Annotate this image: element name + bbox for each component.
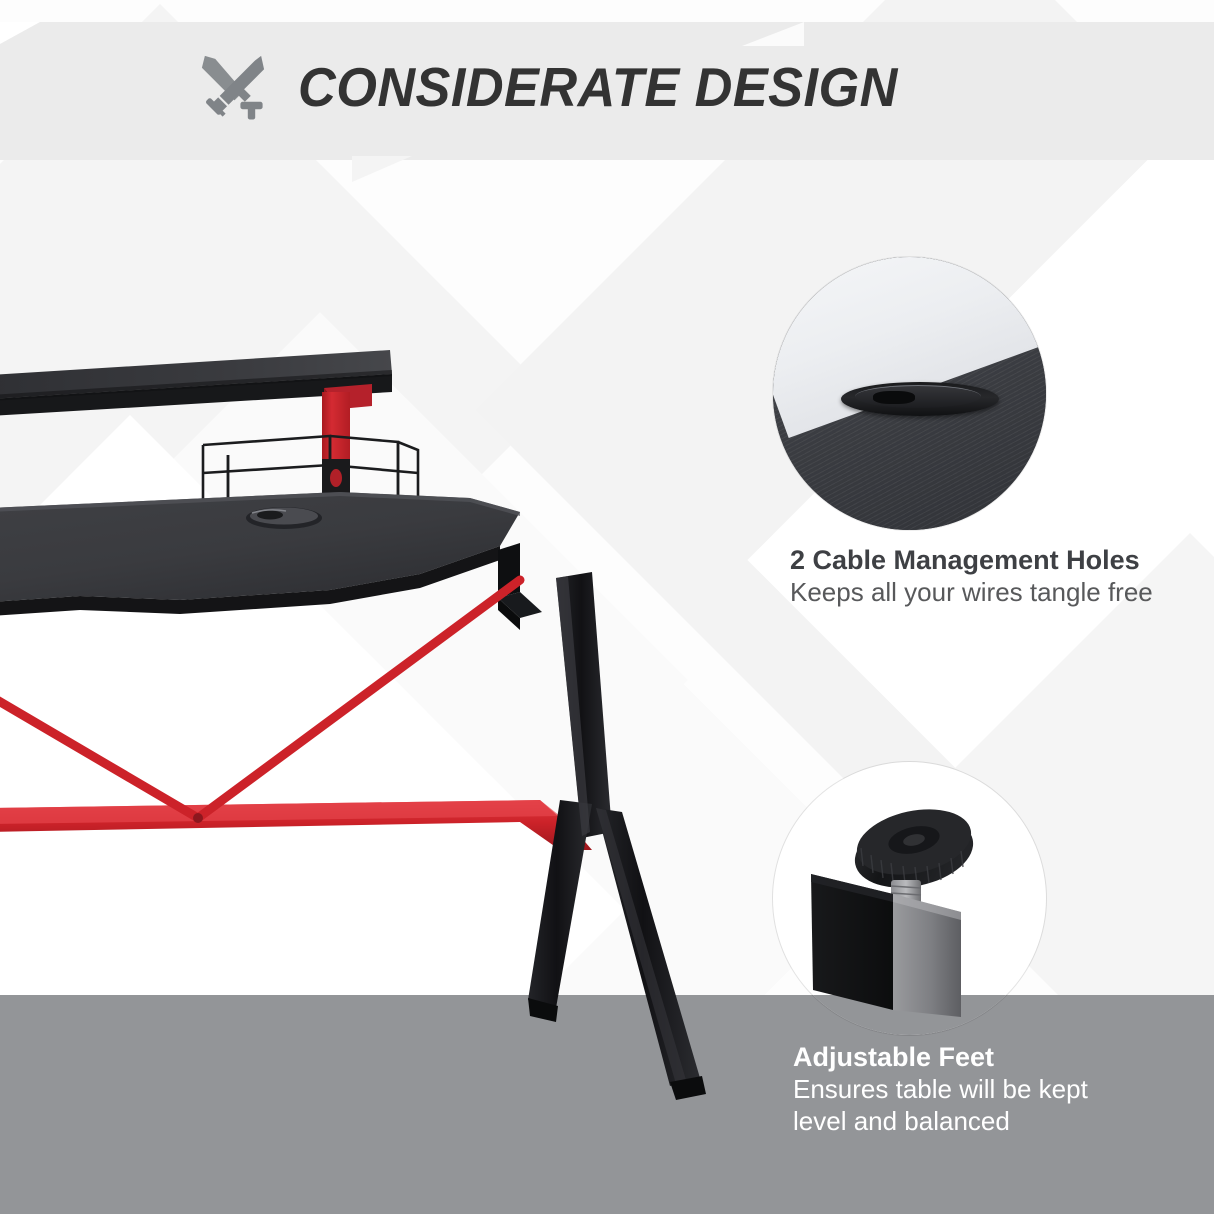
callout-subtitle: Keeps all your wires tangle free (790, 577, 1190, 609)
grommet-lid (855, 385, 981, 408)
brace-joint (193, 813, 203, 823)
product-feature-image: CONSIDERATE DESIGN (0, 0, 1214, 1214)
header-row: CONSIDERATE DESIGN (196, 48, 929, 126)
grommet-ring (841, 382, 999, 416)
red-cross-brace (0, 580, 520, 818)
adjustable-foot-closeup (773, 762, 1046, 1035)
gaming-desk-illustration (0, 160, 800, 1160)
callout-subtitle-line2: level and balanced (793, 1106, 1193, 1138)
page-title: CONSIDERATE DESIGN (298, 60, 898, 115)
callout-cable-management: 2 Cable Management Holes Keeps all your … (790, 545, 1190, 609)
callout-subtitle-line1: Ensures table will be kept (793, 1074, 1193, 1106)
basket-clamp-accent (330, 469, 342, 487)
grommet-slot (873, 391, 915, 404)
callout-title: 2 Cable Management Holes (790, 545, 1190, 577)
cable-management-grommet (246, 507, 322, 529)
leg-tube (811, 874, 961, 1017)
callout-title: Adjustable Feet (793, 1042, 1193, 1074)
crossed-swords-icon (196, 48, 270, 126)
cable-management-hole-closeup (773, 257, 1046, 530)
header-corner-notch (0, 22, 40, 44)
adjustable-foot-drawing (773, 762, 1046, 1035)
callout-adjustable-feet: Adjustable Feet Ensures table will be ke… (793, 1042, 1193, 1137)
black-a-frame-leg (528, 572, 706, 1100)
red-horizontal-beam (0, 800, 592, 850)
header-corner-notch (742, 22, 804, 46)
